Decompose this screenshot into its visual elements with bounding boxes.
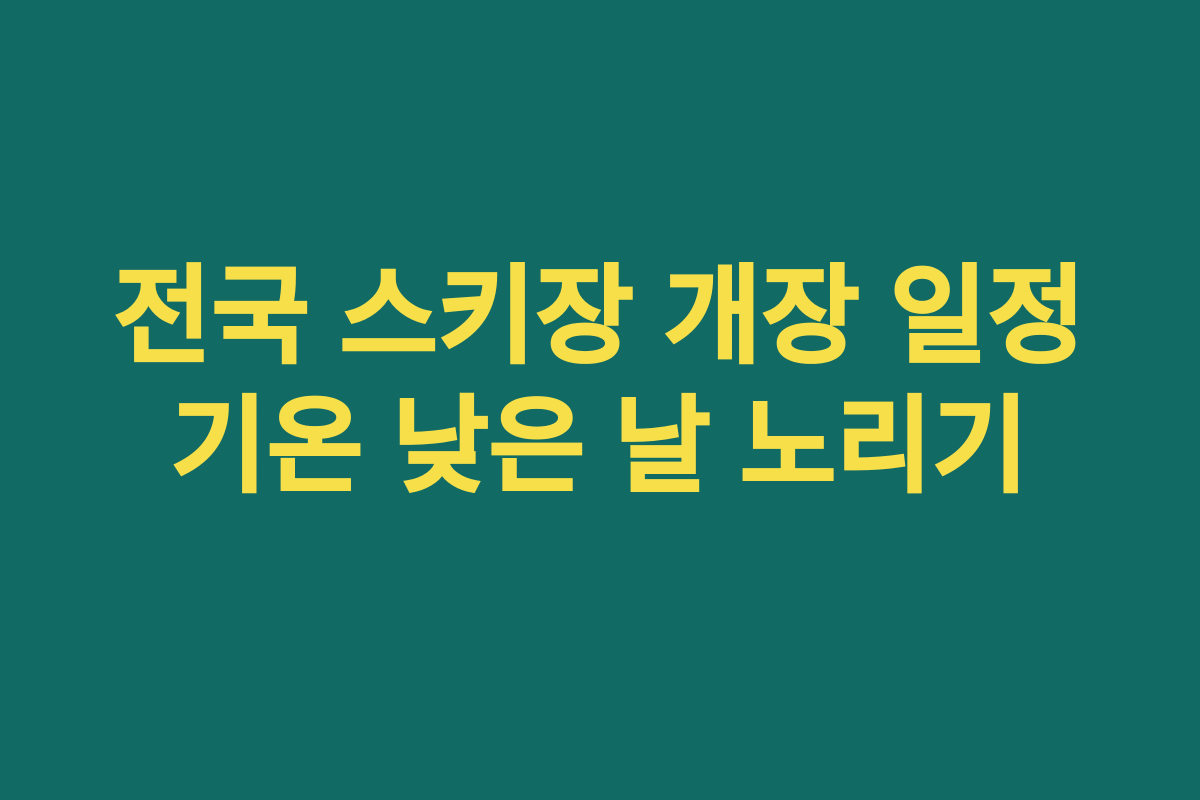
headline-line-1: 전국 스키장 개장 일정 <box>40 252 1160 382</box>
banner-canvas: 전국 스키장 개장 일정 기온 낮은 날 노리기 <box>0 0 1200 800</box>
headline-block: 전국 스키장 개장 일정 기온 낮은 날 노리기 <box>0 252 1200 512</box>
headline-line-2: 기온 낮은 날 노리기 <box>40 382 1160 512</box>
